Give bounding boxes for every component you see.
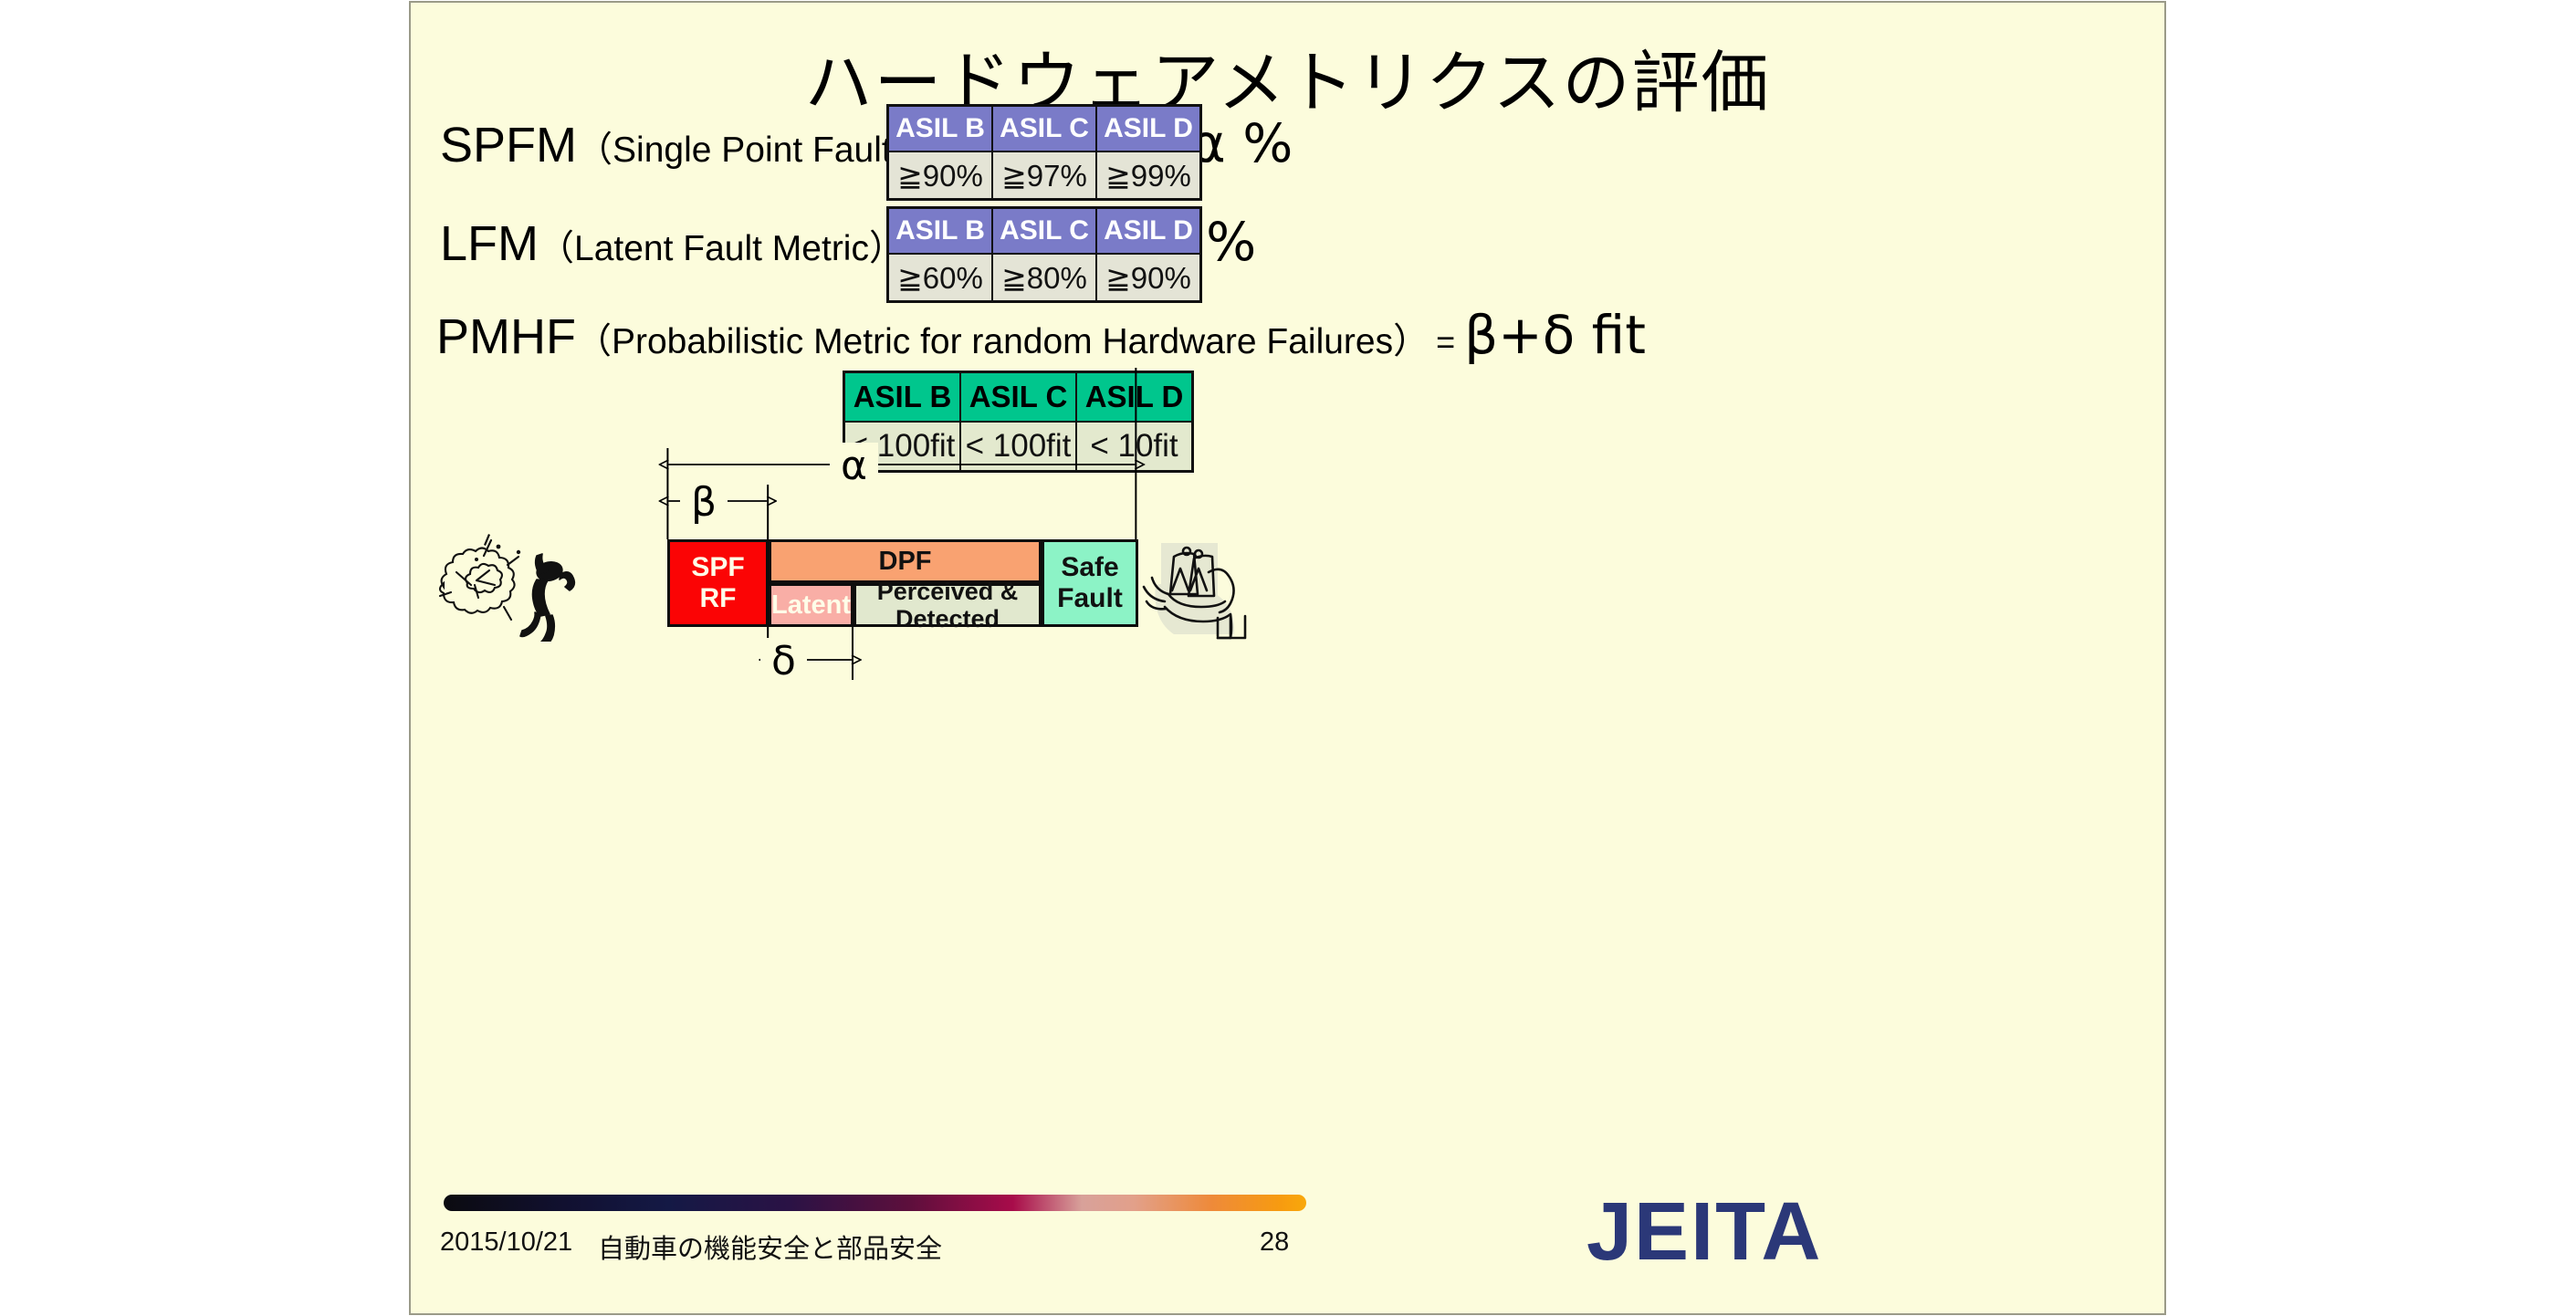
table-row: ASIL B ASIL C ASIL D (844, 372, 1193, 423)
asil-header-b: ASIL B (844, 372, 961, 423)
metric-abbr-lfm: LFM (440, 215, 539, 272)
footer-date: 2015/10/21 (440, 1227, 572, 1258)
bar-block-safe-fault: Safe Fault (1042, 539, 1138, 627)
page-title: ハードウェアメトリクスの評価 (411, 28, 2164, 126)
bar-block-spf-rf: SPF RF (667, 539, 769, 627)
table-row: ASIL B ASIL C ASIL D (888, 208, 1201, 255)
dimension-label-delta: δ (760, 638, 807, 684)
bar-block-perceived-detected-label: Perceived & Detected (856, 578, 1039, 632)
asil-table-spfm: ASIL B ASIL C ASIL D ≧90% ≧97% ≧99% (886, 104, 1202, 201)
hand-holding-people-icon (1141, 534, 1264, 648)
asil-header-c: ASIL C (992, 106, 1096, 152)
asil-value-c: ≧80% (992, 254, 1096, 302)
dimension-label-alpha: α (830, 443, 878, 489)
jeita-logo: JEITA (1586, 1185, 1822, 1279)
asil-value-b: ≧90% (888, 151, 993, 200)
table-row: ≧90% ≧97% ≧99% (888, 151, 1201, 200)
asil-value-b: ≧60% (888, 254, 993, 302)
bar-block-latent: Latent (769, 583, 853, 627)
metric-abbr-pmhf: PMHF (436, 308, 576, 365)
metric-formula-pmhf: β+δ fit (1464, 304, 1646, 366)
explosion-person-icon (424, 532, 583, 642)
footer-gradient-bar (444, 1195, 1306, 1211)
asil-table-lfm: ASIL B ASIL C ASIL D ≧60% ≧80% ≧90% (886, 206, 1202, 303)
metric-equals-pmhf: = (1436, 323, 1455, 361)
metric-expansion-lfm: （Latent Fault Metric） (539, 220, 905, 271)
bar-block-fault-label: Fault (1057, 583, 1123, 614)
asil-header-d: ASIL D (1096, 208, 1201, 255)
table-row: ≧60% ≧80% ≧90% (888, 254, 1201, 302)
asil-header-d: ASIL D (1076, 372, 1193, 423)
bar-block-latent-label: Latent (771, 590, 851, 620)
metric-expansion-pmhf: （Probabilistic Metric for random Hardwar… (576, 313, 1429, 364)
asil-header-b: ASIL B (888, 106, 993, 152)
asil-header-b: ASIL B (888, 208, 993, 255)
asil-header-c: ASIL C (960, 372, 1076, 423)
bar-block-dpf-label: DPF (879, 547, 932, 576)
fault-distribution-diagram: α β δ SPF RF DPF Latent Perceived & Dete… (411, 432, 2164, 705)
bar-block-safe-label: Safe (1061, 552, 1118, 583)
table-row: ASIL B ASIL C ASIL D (888, 106, 1201, 152)
bar-block-rf-label: RF (700, 583, 737, 614)
metric-row-pmhf: PMHF （Probabilistic Metric for random Ha… (436, 304, 1646, 366)
asil-value-d: ≧90% (1096, 254, 1201, 302)
asil-header-c: ASIL C (992, 208, 1096, 255)
asil-header-d: ASIL D (1096, 106, 1201, 152)
dimension-label-beta: β (680, 479, 728, 526)
bar-block-spf-label: SPF (691, 552, 744, 583)
footer-subject: 自動車の機能安全と部品安全 (598, 1227, 942, 1266)
metric-abbr-spfm: SPFM (440, 117, 577, 173)
bar-block-perceived-detected: Perceived & Detected (853, 583, 1042, 627)
asil-value-d: ≧99% (1096, 151, 1201, 200)
slide-canvas: ハードウェアメトリクスの評価 SPFM （Single Point Fault … (409, 1, 2166, 1315)
footer-page-number: 28 (1260, 1227, 1289, 1258)
asil-value-c: ≧97% (992, 151, 1096, 200)
